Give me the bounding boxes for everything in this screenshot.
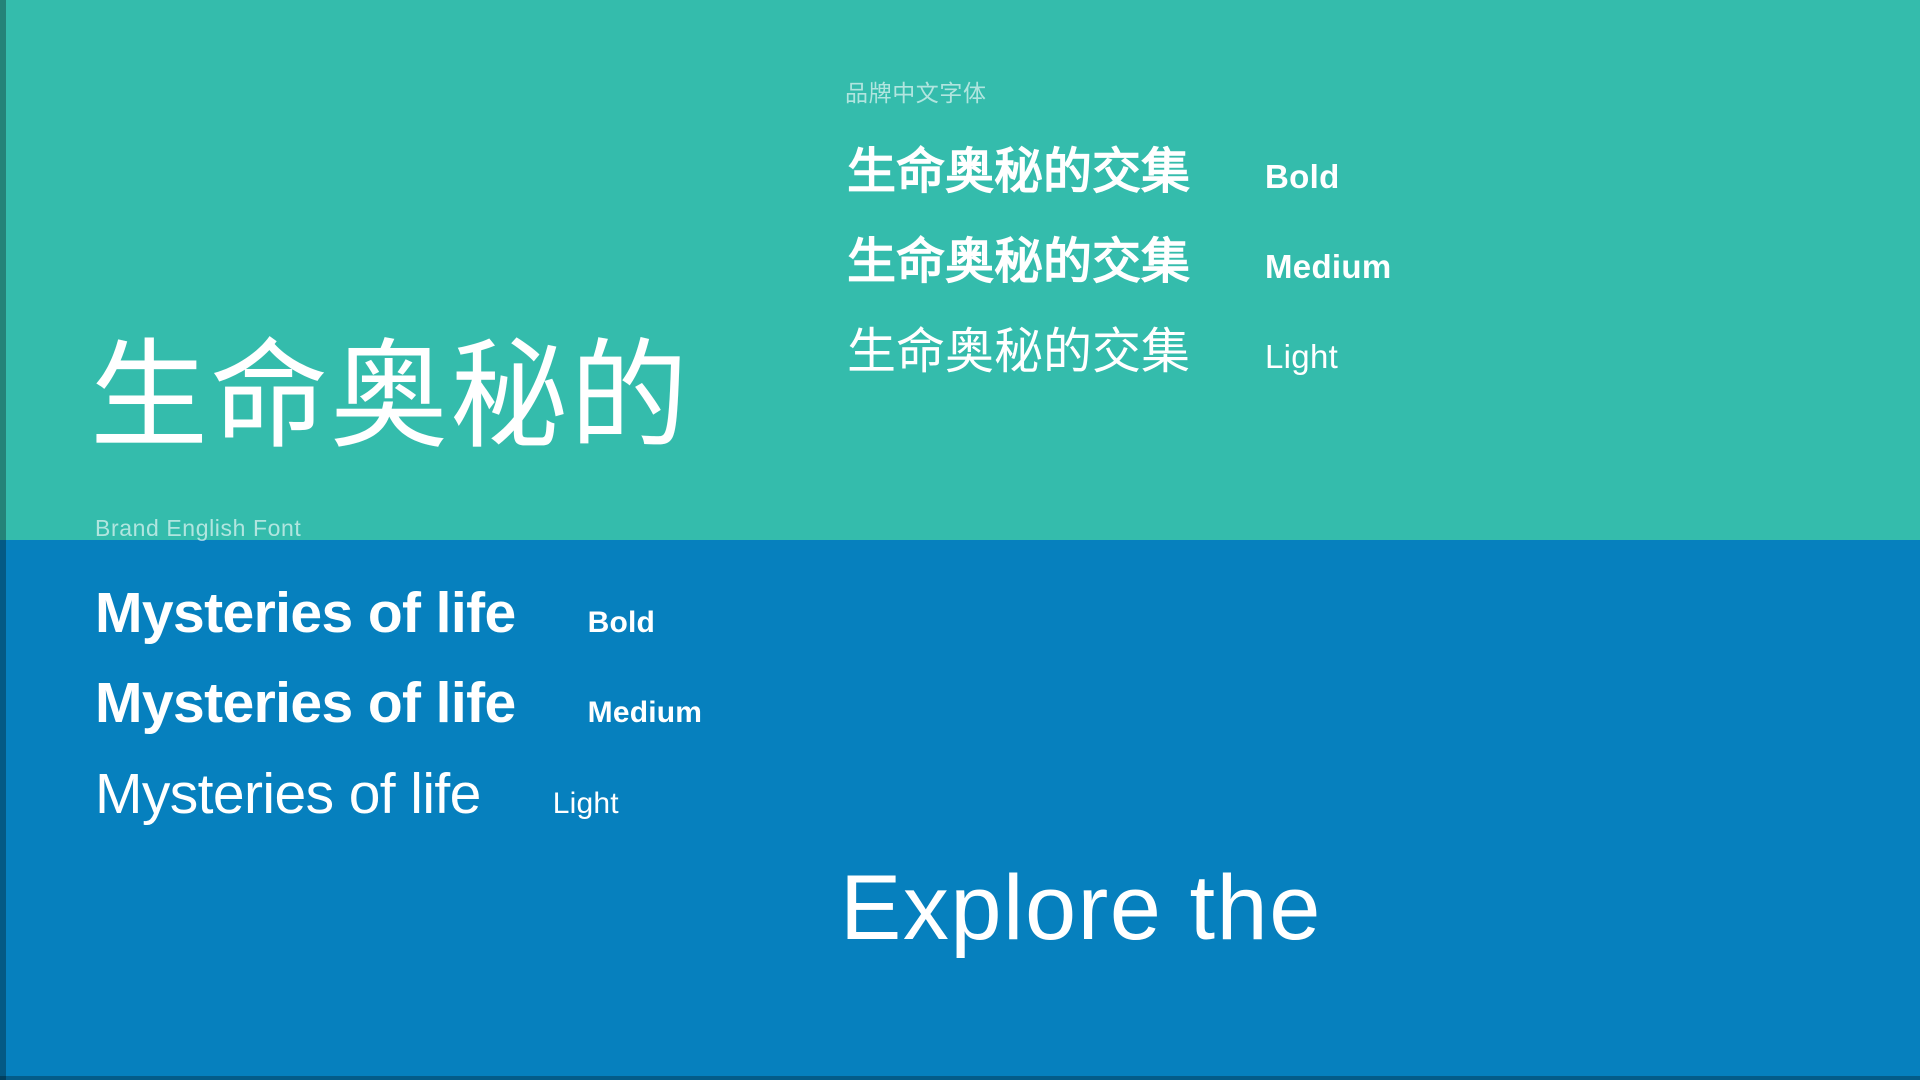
chinese-sample-medium: 生命奥秘的交集 [847, 238, 1190, 287]
english-weight-label-light: Light [553, 789, 619, 819]
chinese-weight-label-bold: Bold [1265, 160, 1340, 193]
typography-specimen-canvas: 生命奥秘的 交集 品牌中文字体 生命奥秘的交集 Bold 生命奥秘的交集 Med… [0, 0, 1920, 1080]
chinese-section-label: 品牌中文字体 [845, 74, 987, 108]
english-sample-bold: Mysteries of life [95, 585, 516, 642]
chinese-hero-line-1: 生命奥秘的 [90, 328, 690, 467]
bottom-edge-strip [0, 1076, 1920, 1080]
english-display-phrase: Explore the mysteries of life [840, 628, 1505, 1080]
chinese-weight-label-medium: Medium [1265, 250, 1391, 283]
english-specimen-row-light: Mysteries of life Light [95, 766, 619, 823]
chinese-sample-light: 生命奥秘的交集 [847, 328, 1190, 377]
chinese-specimen-row-light: 生命奥秘的交集 Light [847, 328, 1338, 377]
left-edge-strip [0, 0, 6, 1080]
english-sample-medium: Mysteries of life [95, 675, 516, 732]
english-specimen-row-bold: Mysteries of life Bold [95, 585, 655, 642]
english-display-line-1: Explore the [840, 852, 1505, 964]
chinese-sample-bold: 生命奥秘的交集 [847, 148, 1190, 197]
english-weight-label-bold: Bold [588, 608, 655, 638]
chinese-specimen-row-medium: 生命奥秘的交集 Medium [847, 238, 1391, 287]
chinese-font-panel: 生命奥秘的 交集 品牌中文字体 生命奥秘的交集 Bold 生命奥秘的交集 Med… [0, 0, 1920, 540]
english-section-label: Brand English Font [95, 515, 301, 542]
english-sample-light: Mysteries of life [95, 766, 481, 823]
english-font-panel: Brand English Font Mysteries of life Bol… [0, 540, 1920, 1080]
chinese-specimen-row-bold: 生命奥秘的交集 Bold [847, 148, 1340, 197]
english-specimen-row-medium: Mysteries of life Medium [95, 675, 702, 732]
chinese-weight-label-light: Light [1265, 340, 1338, 373]
english-weight-label-medium: Medium [588, 698, 703, 728]
